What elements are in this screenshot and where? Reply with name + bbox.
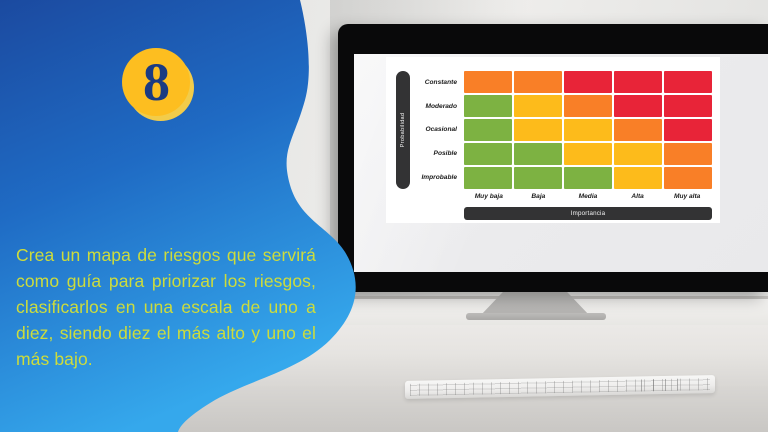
matrix-cell: [464, 167, 512, 189]
monitor-stand-base: [466, 313, 606, 320]
matrix-cell: [614, 167, 662, 189]
matrix-cell: [514, 167, 562, 189]
importance-axis-label: Importancia: [571, 210, 606, 217]
matrix-cell: [614, 143, 662, 165]
matrix-cell: [514, 95, 562, 117]
matrix-cell: [564, 95, 612, 117]
slide-canvas: Probabilidad Constante Moderado Ocasiona…: [0, 0, 768, 432]
matrix-cell: [464, 143, 512, 165]
column-label: Baja: [514, 193, 564, 204]
column-label: Muy baja: [464, 193, 514, 204]
row-label: Constante: [416, 71, 462, 95]
row-label: Posible: [416, 142, 462, 166]
matrix-cell: [614, 95, 662, 117]
matrix-row: [464, 143, 712, 165]
matrix-row: [464, 167, 712, 189]
matrix-row: [464, 71, 712, 93]
row-label: Moderado: [416, 95, 462, 119]
matrix-row: [464, 119, 712, 141]
matrix-cell: [564, 143, 612, 165]
risk-matrix-card: Probabilidad Constante Moderado Ocasiona…: [386, 57, 720, 223]
matrix-cell: [564, 71, 612, 93]
row-label-column: Constante Moderado Ocasional Posible Imp…: [416, 71, 462, 189]
importance-axis-bar: Importancia: [464, 207, 712, 220]
matrix-cell: [664, 143, 712, 165]
badge-number: 8: [122, 48, 190, 116]
matrix-cell: [464, 95, 512, 117]
column-label: Muy alta: [662, 193, 712, 204]
matrix-grid: [464, 71, 712, 189]
matrix-cell: [564, 167, 612, 189]
slide-body-text: Crea un mapa de riesgos que servirá como…: [16, 242, 316, 372]
column-label: Media: [563, 193, 613, 204]
row-label: Ocasional: [416, 118, 462, 142]
matrix-cell: [564, 119, 612, 141]
matrix-cell: [664, 71, 712, 93]
matrix-cell: [614, 71, 662, 93]
matrix-cell: [614, 119, 662, 141]
column-label: Alta: [613, 193, 663, 204]
step-number-badge: 8: [122, 48, 194, 120]
matrix-cell: [464, 119, 512, 141]
matrix-row: [464, 95, 712, 117]
keyboard-arrow-keys: [641, 379, 687, 392]
matrix-cell: [664, 95, 712, 117]
matrix-cell: [514, 71, 562, 93]
column-label-row: Muy bajaBajaMediaAltaMuy alta: [464, 193, 712, 204]
matrix-cell: [464, 71, 512, 93]
matrix-cell: [664, 167, 712, 189]
matrix-cell: [664, 119, 712, 141]
matrix-grid-wrapper: Constante Moderado Ocasional Posible Imp…: [416, 71, 712, 189]
matrix-cell: [514, 119, 562, 141]
matrix-cell: [514, 143, 562, 165]
row-label: Improbable: [416, 165, 462, 189]
